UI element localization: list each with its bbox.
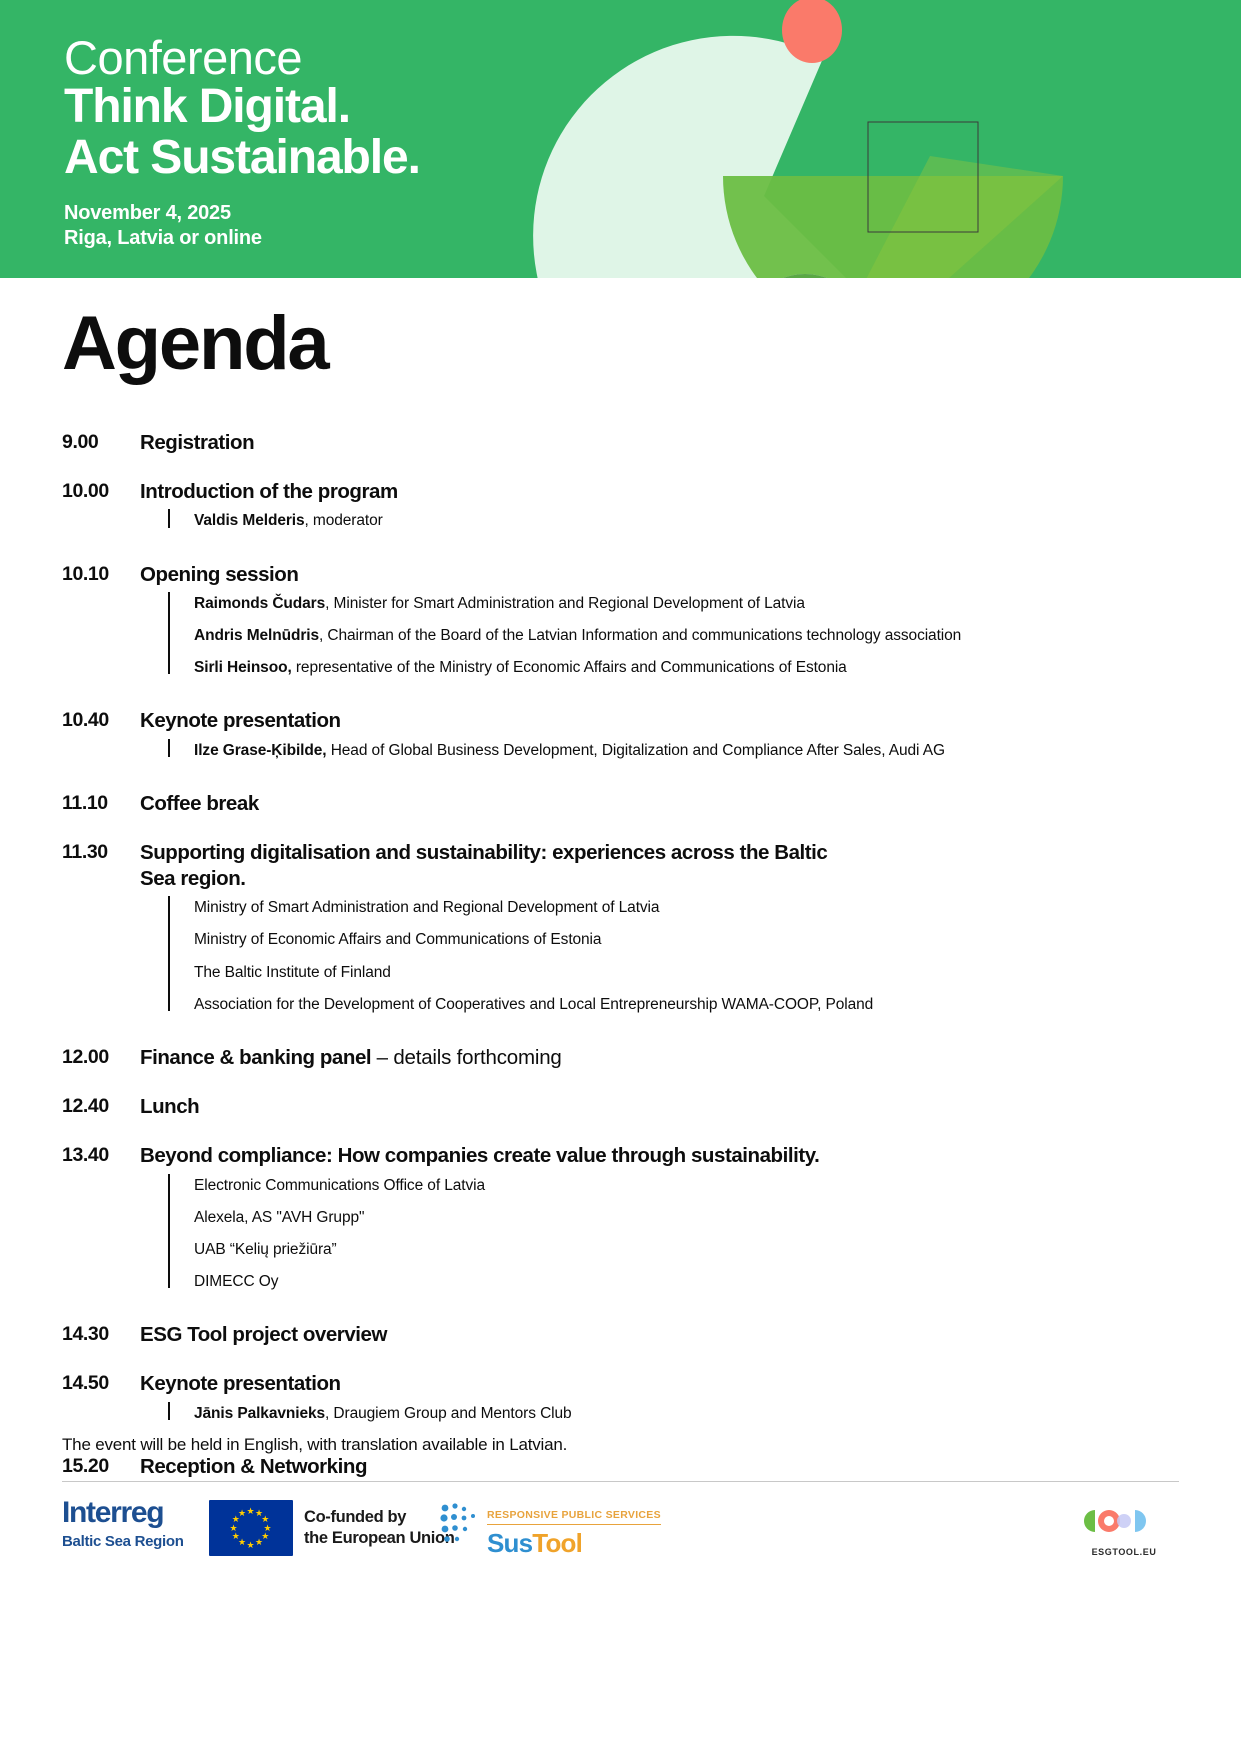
agenda-spacer <box>0 761 1241 791</box>
eu-cofunded-text: Co-funded by the European Union <box>304 1507 454 1549</box>
agenda-spacer <box>0 1424 1241 1454</box>
green-overlay-shape <box>795 156 1063 278</box>
agenda-item-speakers: Jānis Palkavnieks, Draugiem Group and Me… <box>140 1404 1241 1424</box>
interreg-region-label: Baltic Sea Region <box>62 1533 184 1550</box>
agenda-item-title: Reception & Networking <box>140 1454 1241 1480</box>
sustool-logo: RESPONSIVE PUBLIC SERVICES SusTool <box>439 1501 661 1559</box>
agenda-item: 12.40Lunch <box>0 1094 1241 1120</box>
agenda-item-title: Keynote presentation <box>140 708 1241 734</box>
agenda-speaker-role: Ministry of Smart Administration and Reg… <box>194 899 659 916</box>
agenda-spacer <box>0 1071 1241 1094</box>
agenda-item-time: 11.30 <box>62 840 140 864</box>
esgtool-mark-icon <box>1069 1502 1179 1540</box>
agenda-item-speakers: Ilze Grase-Ķibilde, Head of Global Busin… <box>140 741 1241 761</box>
header-title-line-1: Think Digital. <box>64 81 420 132</box>
agenda-item-time: 10.10 <box>62 562 140 586</box>
agenda-speaker-line: Electronic Communications Office of Latv… <box>194 1176 1241 1196</box>
agenda-item-title: Registration <box>140 430 1241 456</box>
agenda-item-title: Supporting digitalisation and sustainabi… <box>140 840 860 892</box>
agenda-speaker-line: Ministry of Smart Administration and Reg… <box>194 898 1241 918</box>
header-text-block: Conference Think Digital. Act Sustainabl… <box>64 34 420 252</box>
header-meta: November 4, 2025 Riga, Latvia or online <box>64 201 420 252</box>
sustool-name: SusTool <box>487 1528 661 1559</box>
agenda-item-body: Coffee break <box>140 791 1241 817</box>
agenda-speaker-role: , Chairman of the Board of the Latvian I… <box>319 627 961 644</box>
agenda-speaker-role: , Draugiem Group and Mentors Club <box>325 1405 572 1422</box>
poster-page: Conference Think Digital. Act Sustainabl… <box>0 0 1241 1754</box>
agenda-item-title: Keynote presentation <box>140 1371 1241 1397</box>
agenda-item-body: Lunch <box>140 1094 1241 1120</box>
agenda-item-time: 14.50 <box>62 1371 140 1395</box>
agenda-item: 10.40Keynote presentationIlze Grase-Ķibi… <box>0 708 1241 760</box>
agenda-item-time: 9.00 <box>62 430 140 454</box>
agenda-item-title: Opening session <box>140 562 1241 588</box>
agenda-speaker-line: Association for the Development of Coope… <box>194 995 1241 1015</box>
agenda-item-time: 15.20 <box>62 1454 140 1478</box>
agenda-speaker-line: Sirli Heinsoo, representative of the Min… <box>194 658 1241 678</box>
esgtool-caption: ESGTOOL.EU <box>1069 1547 1179 1557</box>
agenda-item-title-suffix: – details forthcoming <box>371 1046 561 1069</box>
agenda-item-time: 10.00 <box>62 479 140 503</box>
agenda-speaker-role: Electronic Communications Office of Latv… <box>194 1177 485 1194</box>
agenda-speaker-line: Raimonds Čudars, Minister for Smart Admi… <box>194 594 1241 614</box>
agenda-speaker-line: Ilze Grase-Ķibilde, Head of Global Busin… <box>194 741 1241 761</box>
agenda-speaker-name: Andris Melnūdris <box>194 627 319 644</box>
agenda-speaker-role: Alexela, AS "AVH Grupp" <box>194 1209 364 1226</box>
eu-star-icon: ★ <box>238 1509 246 1518</box>
agenda-speaker-role: Association for the Development of Coope… <box>194 996 873 1013</box>
agenda-spacer <box>0 1292 1241 1322</box>
agenda-speaker-role: DIMECC Oy <box>194 1273 278 1290</box>
agenda-speaker-line: DIMECC Oy <box>194 1272 1241 1292</box>
page-title: Agenda <box>62 300 328 387</box>
eu-flag-icon: ★★★★★★★★★★★★ <box>209 1500 293 1556</box>
mint-wedge-shape <box>450 0 1009 278</box>
agenda-item-title: Coffee break <box>140 791 1241 817</box>
agenda-item-body: ESG Tool project overview <box>140 1322 1241 1348</box>
agenda-item-body: Beyond compliance: How companies create … <box>140 1143 1241 1292</box>
agenda-item-body: Keynote presentationJānis Palkavnieks, D… <box>140 1371 1241 1423</box>
circle-intersection-shape <box>743 274 867 278</box>
agenda-item-body: Finance & banking panel – details forthc… <box>140 1045 1241 1071</box>
agenda-speaker-line: Ministry of Economic Affairs and Communi… <box>194 930 1241 950</box>
event-date: November 4, 2025 <box>64 201 420 227</box>
agenda-speaker-role: representative of the Ministry of Econom… <box>292 659 847 676</box>
agenda-item-speakers: Electronic Communications Office of Latv… <box>140 1176 1241 1293</box>
agenda-spacer <box>0 1348 1241 1371</box>
agenda-item: 14.50Keynote presentationJānis Palkavnie… <box>0 1371 1241 1423</box>
agenda-speaker-name: Ilze Grase-Ķibilde, <box>194 742 326 759</box>
agenda-speaker-role: , Minister for Smart Administration and … <box>325 595 805 612</box>
agenda-item: 14.30ESG Tool project overview <box>0 1322 1241 1348</box>
agenda-item: 10.10Opening sessionRaimonds Čudars, Min… <box>0 562 1241 679</box>
agenda-speaker-line: Andris Melnūdris, Chairman of the Board … <box>194 626 1241 646</box>
agenda-item-title: Beyond compliance: How companies create … <box>140 1143 1241 1169</box>
agenda-item-title: ESG Tool project overview <box>140 1322 1241 1348</box>
agenda-item: 10.00Introduction of the programValdis M… <box>0 479 1241 531</box>
eu-line-1: Co-funded by <box>304 1507 454 1528</box>
agenda-spacer <box>0 1015 1241 1045</box>
agenda-spacer <box>0 1480 1241 1503</box>
eu-star-icon: ★ <box>247 1507 255 1516</box>
sustool-dots-icon <box>439 1501 481 1549</box>
agenda-item-time: 13.40 <box>62 1143 140 1167</box>
agenda-speaker-role: , moderator <box>305 512 383 529</box>
eu-star-icon: ★ <box>255 1538 263 1547</box>
agenda-item-body: Supporting digitalisation and sustainabi… <box>140 840 1241 1015</box>
eu-line-2: the European Union <box>304 1528 454 1549</box>
agenda-spacer <box>0 532 1241 562</box>
agenda-spacer <box>0 817 1241 840</box>
interreg-logo: Interreg Baltic Sea Region <box>62 1498 184 1550</box>
eu-cofunded-logo: ★★★★★★★★★★★★ Co-funded by the European U… <box>209 1500 454 1556</box>
green-halfcircle-shape <box>723 176 1063 278</box>
agenda-spacer <box>0 1120 1241 1143</box>
agenda-item-title: Lunch <box>140 1094 1241 1120</box>
esgtool-logo: ESGTOOL.EU <box>1069 1502 1179 1557</box>
agenda-item-body: Introduction of the programValdis Melder… <box>140 479 1241 531</box>
periwinkle-circle-shape <box>743 274 867 278</box>
agenda-item-time: 10.40 <box>62 708 140 732</box>
agenda-item-speakers: Raimonds Čudars, Minister for Smart Admi… <box>140 594 1241 678</box>
agenda-speaker-name: Jānis Palkavnieks <box>194 1405 325 1422</box>
sustool-name-part-b: Tool <box>532 1528 582 1558</box>
event-location: Riga, Latvia or online <box>64 226 420 252</box>
agenda-item: 12.00Finance & banking panel – details f… <box>0 1045 1241 1071</box>
agenda-item-body: Opening sessionRaimonds Čudars, Minister… <box>140 562 1241 679</box>
agenda-speaker-line: Alexela, AS "AVH Grupp" <box>194 1208 1241 1228</box>
coral-ellipse-shape <box>782 0 842 63</box>
agenda-speaker-name: Sirli Heinsoo, <box>194 659 292 676</box>
agenda-item-body: Registration <box>140 430 1241 456</box>
agenda-speaker-line: Jānis Palkavnieks, Draugiem Group and Me… <box>194 1404 1241 1424</box>
agenda-item-time: 12.00 <box>62 1045 140 1069</box>
header-title-line-2: Act Sustainable. <box>64 132 420 183</box>
eu-star-icon: ★ <box>247 1541 255 1550</box>
sustool-name-part-a: Sus <box>487 1528 532 1558</box>
outline-square-shape <box>868 122 978 232</box>
agenda-speaker-name: Valdis Melderis <box>194 512 305 529</box>
agenda-list: 9.00Registration10.00Introduction of the… <box>0 430 1241 1503</box>
sustool-wordmark: RESPONSIVE PUBLIC SERVICES SusTool <box>487 1505 661 1559</box>
agenda-item-body: Keynote presentationIlze Grase-Ķibilde, … <box>140 708 1241 760</box>
agenda-spacer <box>0 456 1241 479</box>
agenda-item: 11.30Supporting digitalisation and susta… <box>0 840 1241 1015</box>
agenda-speaker-line: The Baltic Institute of Finland <box>194 963 1241 983</box>
agenda-item: 9.00Registration <box>0 430 1241 456</box>
agenda-item-time: 12.40 <box>62 1094 140 1118</box>
agenda-spacer <box>0 678 1241 708</box>
agenda-item-time: 14.30 <box>62 1322 140 1346</box>
agenda-speaker-role: UAB “Kelių priežiūra” <box>194 1241 337 1258</box>
eu-star-icon: ★ <box>230 1524 238 1533</box>
agenda-item-title: Introduction of the program <box>140 479 1241 505</box>
agenda-speaker-name: Raimonds Čudars <box>194 595 325 612</box>
conference-label: Conference <box>64 34 420 81</box>
agenda-speaker-line: UAB “Kelių priežiūra” <box>194 1240 1241 1260</box>
agenda-speaker-role: The Baltic Institute of Finland <box>194 964 391 981</box>
sustool-tagline: RESPONSIVE PUBLIC SERVICES <box>487 1509 661 1525</box>
poster-header: Conference Think Digital. Act Sustainabl… <box>0 0 1241 278</box>
agenda-item: 15.20Reception & Networking <box>0 1454 1241 1480</box>
agenda-item-time: 11.10 <box>62 791 140 815</box>
agenda-speaker-role: Ministry of Economic Affairs and Communi… <box>194 931 601 948</box>
agenda-speaker-line: Valdis Melderis, moderator <box>194 511 1241 531</box>
agenda-speaker-role: Head of Global Business Development, Dig… <box>326 742 944 759</box>
agenda-item: 13.40Beyond compliance: How companies cr… <box>0 1143 1241 1292</box>
eu-star-icon: ★ <box>232 1532 240 1541</box>
agenda-item-title: Finance & banking panel – details forthc… <box>140 1045 1241 1071</box>
agenda-item-body: Reception & Networking <box>140 1454 1241 1480</box>
agenda-item: 11.10Coffee break <box>0 791 1241 817</box>
logo-strip: Interreg Baltic Sea Region ★★★★★★★★★★★★ … <box>62 1492 1179 1582</box>
agenda-item-speakers: Ministry of Smart Administration and Reg… <box>140 898 1241 1015</box>
agenda-item-speakers: Valdis Melderis, moderator <box>140 511 1241 531</box>
